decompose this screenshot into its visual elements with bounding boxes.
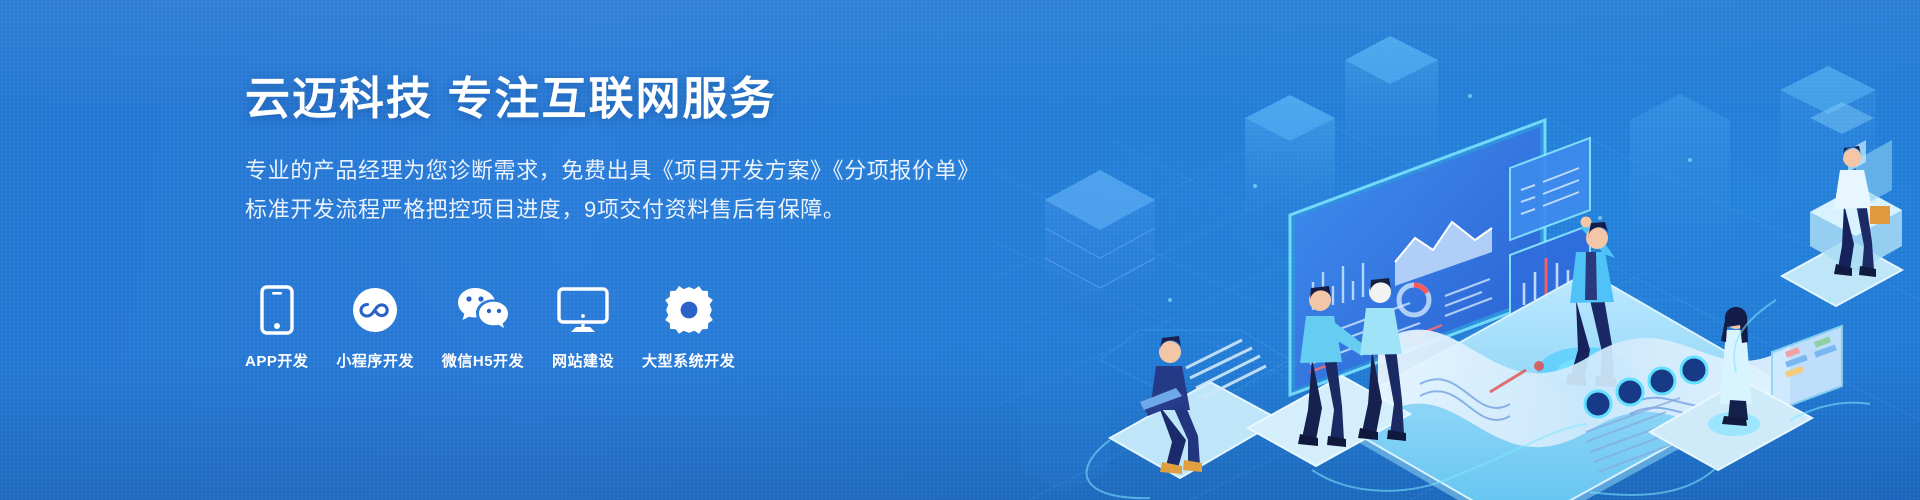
service-item-website[interactable]: 网站建设: [552, 283, 614, 371]
page-title: 云迈科技 专注互联网服务: [245, 72, 965, 125]
service-label: APP开发: [245, 350, 308, 371]
illustration: [990, 0, 1920, 500]
service-item-wechat-h5[interactable]: 微信H5开发: [442, 283, 524, 371]
subtitle-line-1: 专业的产品经理为您诊断需求，免费出具《项目开发方案》《分项报价单》: [245, 151, 965, 190]
service-label: 微信H5开发: [442, 350, 524, 371]
service-label: 网站建设: [552, 350, 614, 371]
wechat-miniprogram-icon: [351, 283, 399, 337]
service-label: 小程序开发: [336, 350, 414, 371]
mobile-phone-icon: [260, 283, 294, 337]
service-item-system[interactable]: 大型系统开发: [642, 283, 735, 371]
service-list: APP开发 小程序开发 微信: [245, 283, 735, 371]
hero-subtitle: 专业的产品经理为您诊断需求，免费出具《项目开发方案》《分项报价单》 标准开发流程…: [245, 151, 965, 229]
service-label: 大型系统开发: [642, 350, 735, 371]
hero-banner: 云迈科技 专注互联网服务 专业的产品经理为您诊断需求，免费出具《项目开发方案》《…: [0, 0, 1920, 500]
gear-icon: [665, 283, 713, 337]
wechat-icon: [456, 283, 510, 337]
service-item-app[interactable]: APP开发: [245, 283, 308, 371]
monitor-icon: [557, 283, 609, 337]
hero-copy: 云迈科技 专注互联网服务 专业的产品经理为您诊断需求，免费出具《项目开发方案》《…: [245, 72, 965, 229]
service-item-miniprogram[interactable]: 小程序开发: [336, 283, 414, 371]
subtitle-line-2: 标准开发流程严格把控项目进度，9项交付资料售后有保障。: [245, 190, 965, 229]
